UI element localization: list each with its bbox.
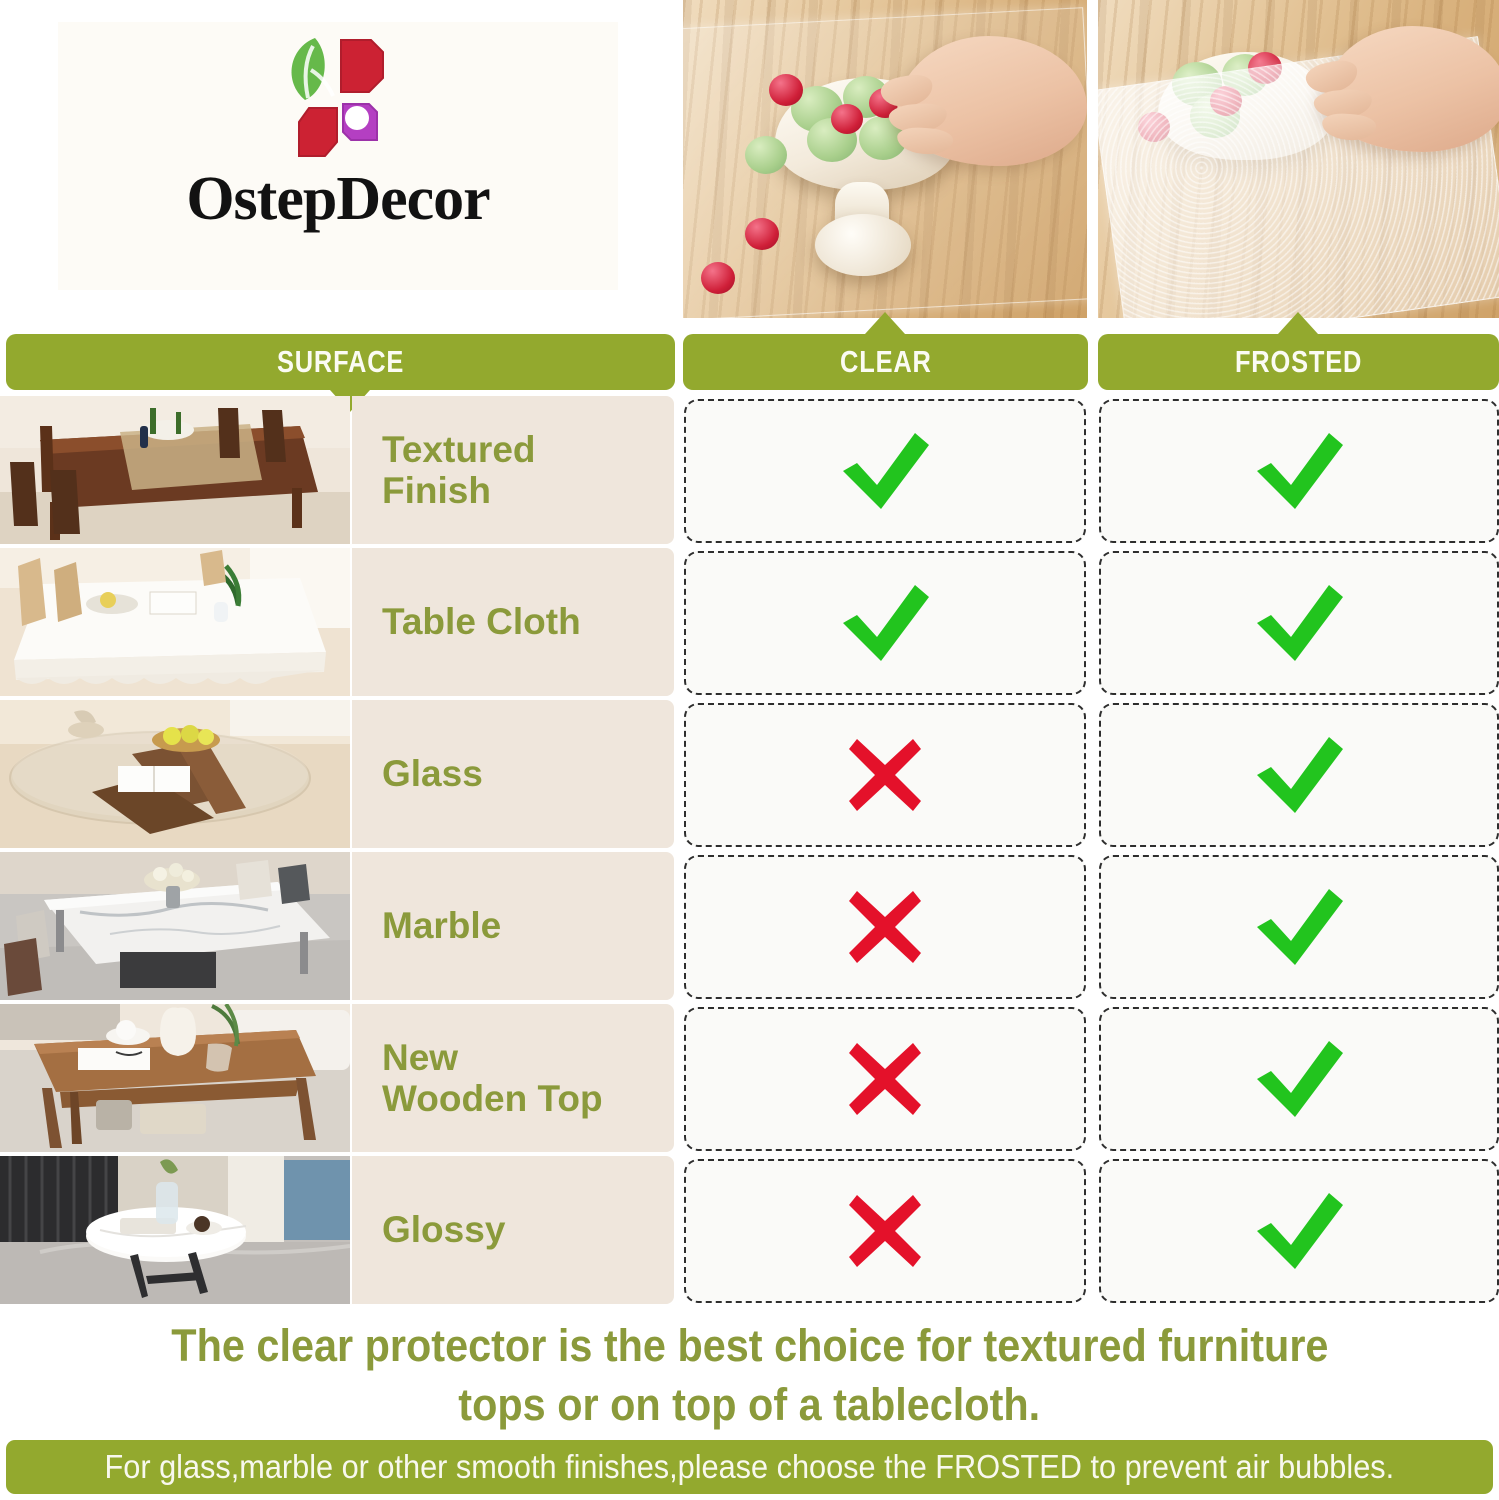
- clear-header-arrow-icon: [865, 312, 905, 334]
- column-header-frosted: FROSTED: [1098, 334, 1499, 390]
- row-label-table-cloth: Table Cloth: [352, 548, 674, 696]
- cell-glossy-clear[interactable]: [684, 1159, 1086, 1303]
- row-thumbnail-table-cloth: [0, 548, 350, 696]
- check-icon: [1251, 581, 1347, 665]
- row-label-glass: Glass: [352, 700, 674, 848]
- row-label-text: Marble: [352, 905, 501, 946]
- check-icon: [1251, 1037, 1347, 1121]
- brand-name: OstepDecor: [186, 164, 489, 235]
- cell-textured-finish-clear[interactable]: [684, 399, 1086, 543]
- cross-icon: [847, 1041, 923, 1117]
- column-header-surface-label: SURFACE: [277, 344, 404, 380]
- cell-glass-frosted[interactable]: [1099, 703, 1499, 847]
- check-icon: [837, 581, 933, 665]
- frosted-header-arrow-icon: [1278, 312, 1318, 334]
- footer-note-text: For glass,marble or other smooth finishe…: [105, 1448, 1395, 1486]
- table-row: Marble: [0, 852, 1499, 1000]
- row-label-new-wooden-top: New Wooden Top: [352, 1004, 674, 1152]
- cell-textured-finish-frosted[interactable]: [1099, 399, 1499, 543]
- table-row: Glass: [0, 700, 1499, 848]
- column-header-frosted-label: FROSTED: [1235, 344, 1362, 380]
- cell-new-wooden-top-clear[interactable]: [684, 1007, 1086, 1151]
- cross-icon: [847, 889, 923, 965]
- hero-section: OstepDecor: [0, 0, 1499, 330]
- row-thumbnail-textured-finish: [0, 396, 350, 544]
- table-row: Glossy: [0, 1156, 1499, 1304]
- check-icon: [1251, 733, 1347, 817]
- check-icon: [837, 429, 933, 513]
- row-label-text: New Wooden Top: [352, 1037, 603, 1120]
- cell-glass-clear[interactable]: [684, 703, 1086, 847]
- table-row: New Wooden Top: [0, 1004, 1499, 1152]
- row-label-text: Glass: [352, 753, 483, 794]
- cross-icon: [847, 737, 923, 813]
- cell-marble-frosted[interactable]: [1099, 855, 1499, 999]
- cell-table-cloth-frosted[interactable]: [1099, 551, 1499, 695]
- cell-table-cloth-clear[interactable]: [684, 551, 1086, 695]
- row-label-text: Table Cloth: [352, 601, 581, 642]
- row-label-text: Textured Finish: [352, 429, 536, 512]
- row-thumbnail-glossy: [0, 1156, 350, 1304]
- row-thumbnail-glass: [0, 700, 350, 848]
- recommendation-statement: The clear protector is the best choice f…: [0, 1316, 1499, 1435]
- check-icon: [1251, 885, 1347, 969]
- statement-line-2: tops or on top of a tablecloth.: [459, 1375, 1041, 1434]
- leaf-and-squares-logo-icon: [253, 30, 423, 170]
- row-thumbnail-marble: [0, 852, 350, 1000]
- cell-marble-clear[interactable]: [684, 855, 1086, 999]
- cell-glossy-frosted[interactable]: [1099, 1159, 1499, 1303]
- check-icon: [1251, 1189, 1347, 1273]
- clear-product-photo: [683, 0, 1087, 318]
- check-icon: [1251, 429, 1347, 513]
- row-label-text: Glossy: [352, 1209, 505, 1250]
- row-label-textured-finish: Textured Finish: [352, 396, 674, 544]
- column-header-surface: SURFACE: [6, 334, 675, 390]
- cross-icon: [847, 1193, 923, 1269]
- cell-new-wooden-top-frosted[interactable]: [1099, 1007, 1499, 1151]
- footer-note-banner: For glass,marble or other smooth finishe…: [6, 1440, 1493, 1494]
- row-thumbnail-new-wooden-top: [0, 1004, 350, 1152]
- column-header-clear: CLEAR: [683, 334, 1088, 390]
- table-row: Table Cloth: [0, 548, 1499, 696]
- comparison-table: Textured Finish: [0, 396, 1499, 1304]
- brand-logo: OstepDecor: [58, 22, 618, 290]
- table-row: Textured Finish: [0, 396, 1499, 544]
- column-header-clear-label: CLEAR: [840, 344, 932, 380]
- statement-line-1: The clear protector is the best choice f…: [171, 1316, 1328, 1375]
- row-label-marble: Marble: [352, 852, 674, 1000]
- frosted-product-photo: [1098, 0, 1499, 318]
- row-label-glossy: Glossy: [352, 1156, 674, 1304]
